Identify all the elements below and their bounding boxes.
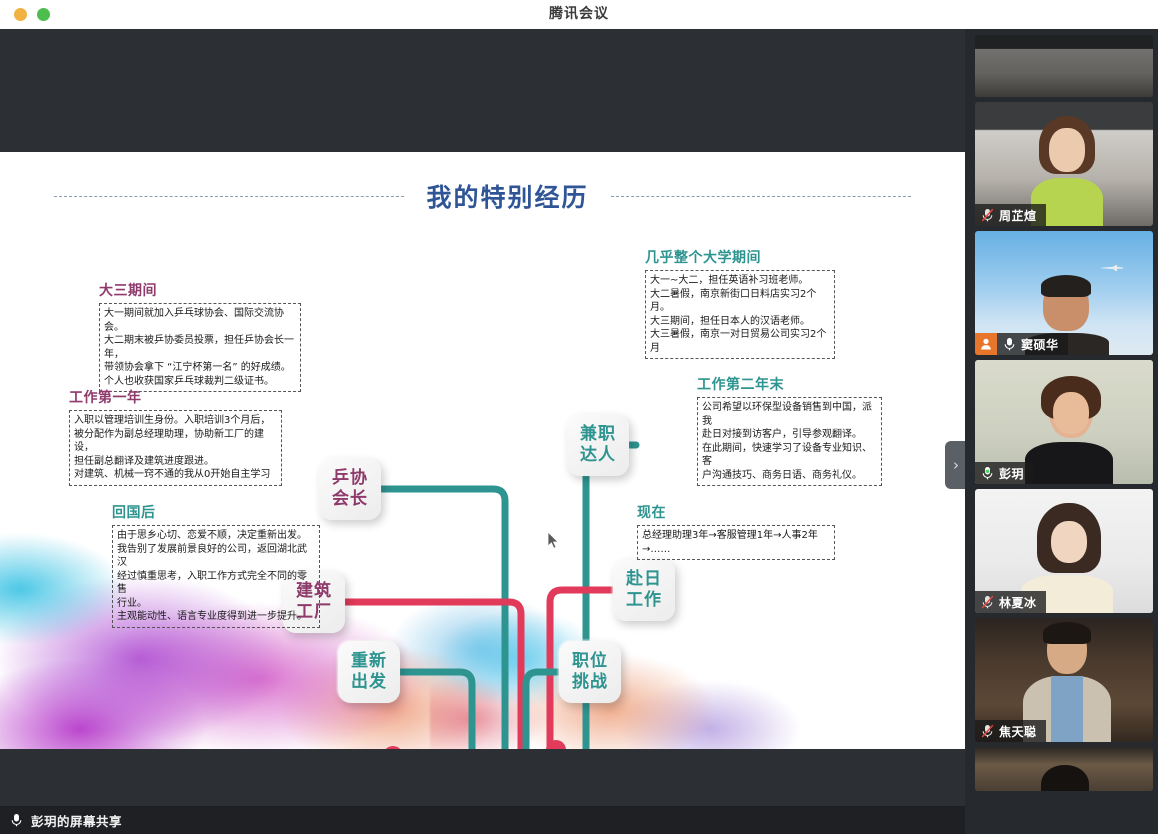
- participant-name: 焦天聪: [999, 723, 1037, 740]
- participant-nametag: 周芷煊: [975, 204, 1046, 226]
- microphone-icon[interactable]: [10, 813, 23, 827]
- node-label-line1: 重新: [351, 651, 387, 672]
- video-tile-lin-xiabing[interactable]: 林夏冰: [975, 489, 1153, 613]
- tencent-meeting-window: 腾讯会议 我的特别经历: [0, 0, 1158, 834]
- video-tile-peng-yue[interactable]: 彭玥: [975, 360, 1153, 484]
- microphone-muted-icon: [981, 724, 994, 738]
- text-block-now: 现在 总经理助理3年→客服管理1年→人事2年 →……: [637, 502, 835, 560]
- block-heading: 大三期间: [99, 280, 301, 300]
- microphone-muted-icon: [981, 595, 994, 609]
- participant-name: 彭玥: [999, 465, 1024, 482]
- window-title: 腾讯会议: [0, 0, 1158, 29]
- participant-nametag: 林夏冰: [975, 591, 1046, 613]
- block-body: 入职以管理培训生身份。入职培训3个月后， 被分配作为副总经理助理，协助新工厂的建…: [69, 410, 282, 486]
- block-heading: 回国后: [112, 502, 320, 522]
- share-status-label: 彭玥的屏幕共享: [31, 811, 122, 830]
- block-body: 由于思乡心切、恋爱不顺，决定重新出发。 我告别了发展前景良好的公司，返回湖北武汉…: [112, 525, 320, 628]
- node-label-line1: 乒协: [332, 468, 368, 489]
- participant-video-list[interactable]: 周芷煊 窦硕华: [965, 29, 1158, 834]
- node-label-line2: 工作: [626, 590, 662, 611]
- block-heading: 工作第一年: [69, 387, 282, 407]
- node-restart[interactable]: 重新 出发: [338, 641, 400, 703]
- text-block-after-return: 回国后 由于思乡心切、恋爱不顺，决定重新出发。 我告别了发展前景良好的公司，返回…: [112, 502, 320, 628]
- text-block-first-work-year: 工作第一年 入职以管理培训生身份。入职培训3个月后， 被分配作为副总经理助理，协…: [69, 387, 282, 486]
- video-tile-partial-top[interactable]: [975, 35, 1153, 97]
- chevron-right-icon: ›: [953, 456, 959, 474]
- node-label-line1: 赴日: [626, 569, 662, 590]
- block-heading: 工作第二年末: [697, 374, 882, 394]
- participant-name: 窦硕华: [1021, 336, 1059, 353]
- block-body: 大一~大二，担任英语补习班老师。 大二暑假，南京新街口日料店实习2个月。 大三期…: [645, 270, 835, 359]
- window-titlebar: 腾讯会议: [0, 0, 1158, 29]
- node-parttime-expert[interactable]: 兼职 达人: [567, 414, 629, 476]
- video-stream: [975, 747, 1153, 791]
- participant-nametag: 焦天聪: [975, 720, 1046, 742]
- text-block-junior-year: 大三期间 大一期间就加入乒乓球协会、国际交流协会。 大二期末被乒协委员投票，担任…: [99, 280, 301, 392]
- node-label-line2: 挑战: [572, 672, 608, 693]
- node-position-challenge[interactable]: 职位 挑战: [559, 641, 621, 703]
- block-heading: 现在: [637, 502, 835, 522]
- block-body: 总经理助理3年→客服管理1年→人事2年 →……: [637, 525, 835, 560]
- mouse-cursor: [548, 532, 560, 550]
- host-badge: [975, 333, 997, 355]
- microphone-icon: [981, 466, 994, 480]
- microphone-icon: [1003, 337, 1016, 351]
- block-heading: 几乎整个大学期间: [645, 247, 835, 267]
- text-block-university-period: 几乎整个大学期间 大一~大二，担任英语补习班老师。 大二暑假，南京新街口日料店实…: [645, 247, 835, 359]
- block-body: 大一期间就加入乒乓球协会、国际交流协会。 大二期末被乒协委员投票，担任乒协会长一…: [99, 303, 301, 392]
- participant-name: 周芷煊: [999, 207, 1037, 224]
- node-pingpong-president[interactable]: 乒协 会长: [319, 458, 381, 520]
- video-tile-jiao-tiancong[interactable]: 焦天聪: [975, 618, 1153, 742]
- video-tile-zhou-zhixuan[interactable]: 周芷煊: [975, 102, 1153, 226]
- participant-name: 林夏冰: [999, 594, 1037, 611]
- node-label-line1: 职位: [572, 651, 608, 672]
- video-tile-partial-bottom[interactable]: [975, 747, 1153, 791]
- branch-endpoint-left: [383, 746, 403, 749]
- node-label-line1: 兼职: [580, 424, 616, 445]
- video-stream: [975, 35, 1153, 97]
- screen-share-status-bar: 彭玥的屏幕共享: [0, 806, 965, 834]
- shared-screen-area[interactable]: 我的特别经历: [0, 29, 965, 806]
- text-block-second-work-year-end: 工作第二年末 公司希望以环保型设备销售到中国，派我 赴日对接到访客户，引导参观翻…: [697, 374, 882, 486]
- node-label-line2: 会长: [332, 489, 368, 510]
- video-tile-dou-shuohua[interactable]: 窦硕华: [975, 231, 1153, 355]
- presentation-slide: 我的特别经历: [0, 152, 965, 749]
- block-body: 公司希望以环保型设备销售到中国，派我 赴日对接到访客户，引导参观翻译。 在此期间…: [697, 397, 882, 486]
- participant-nametag: 彭玥: [975, 462, 1033, 484]
- node-japan-work[interactable]: 赴日 工作: [613, 559, 675, 621]
- node-label-line2: 达人: [580, 445, 616, 466]
- microphone-muted-icon: [981, 208, 994, 222]
- person-icon: [980, 338, 992, 350]
- node-label-line2: 出发: [351, 672, 387, 693]
- collapse-panel-button[interactable]: ›: [945, 441, 965, 489]
